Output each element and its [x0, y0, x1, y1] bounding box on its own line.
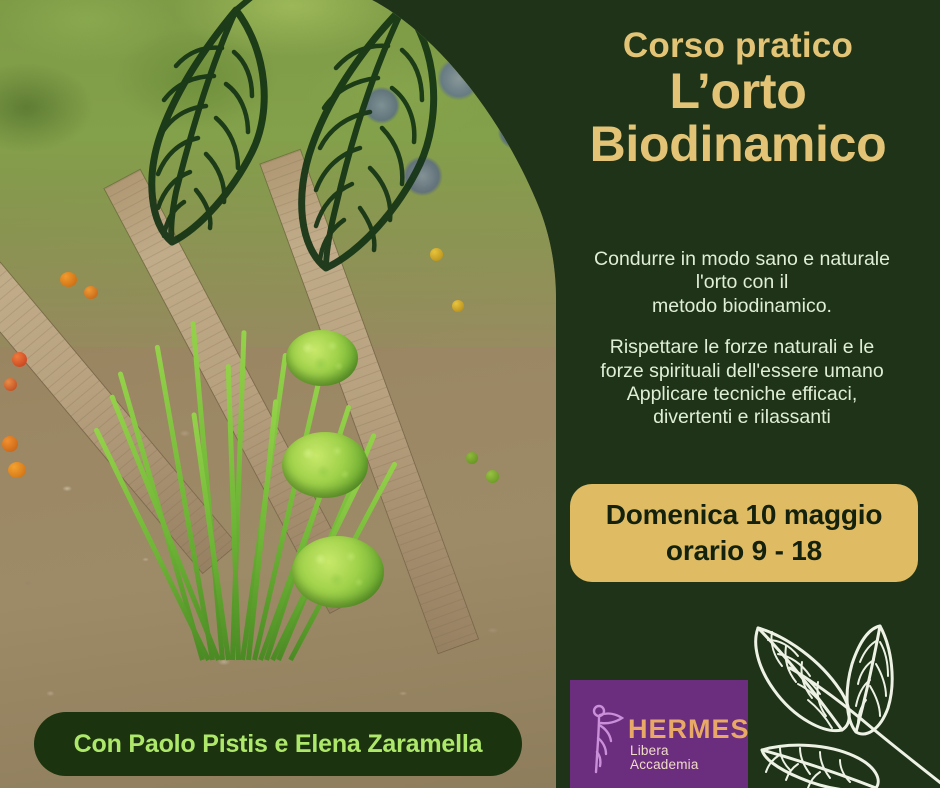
garden-photo — [0, 0, 560, 788]
hermes-logo: HERMES Libera Accademia — [570, 680, 748, 788]
photo-tomato — [20, 404, 32, 416]
title-block: Corso pratico L’orto Biodinamico — [536, 26, 940, 171]
paragraph-gap — [544, 318, 940, 336]
description-text: Condurre in modo sano e naturale l'orto … — [544, 248, 940, 430]
photo-tomato — [12, 352, 27, 367]
photo-tomato-green — [486, 470, 499, 483]
photo-marigold — [84, 286, 98, 299]
leaf-sprig-icon — [728, 602, 940, 788]
photo-lettuce — [286, 330, 358, 386]
description-line: forze spirituali dell'essere umano — [544, 360, 940, 383]
poster-root: Corso pratico L’orto Biodinamico Condurr… — [0, 0, 940, 788]
hermes-logo-tagline: Libera Accademia — [630, 744, 740, 771]
photo-marigold — [2, 436, 18, 452]
title-line-2: Biodinamico — [536, 118, 940, 171]
description-line: Condurre in modo sano e naturale — [544, 248, 940, 271]
hermes-logo-name: HERMES — [628, 716, 750, 743]
description-line: Rispettare le forze naturali e le — [544, 336, 940, 359]
date-badge: Domenica 10 maggio orario 9 - 18 — [570, 484, 918, 582]
photo-lettuce — [282, 432, 368, 498]
garden-photo-image — [0, 0, 560, 788]
info-panel: Corso pratico L’orto Biodinamico Condurr… — [556, 0, 940, 788]
description-line: metodo biodinamico. — [544, 295, 940, 318]
leaf-outline-icon — [0, 0, 560, 286]
presenters-text: Con Paolo Pistis e Elena Zaramella — [74, 730, 483, 759]
photo-tomato — [4, 378, 17, 391]
title-kicker: Corso pratico — [536, 26, 940, 65]
photo-marigold — [452, 300, 464, 312]
description-line: l'orto con il — [544, 271, 940, 294]
photo-tomato-green — [466, 452, 478, 464]
photo-lettuce — [292, 536, 384, 608]
presenters-banner: Con Paolo Pistis e Elena Zaramella — [34, 712, 522, 776]
title-line-1: L’orto — [536, 65, 940, 118]
date-badge-time: orario 9 - 18 — [666, 533, 822, 569]
photo-marigold — [8, 462, 26, 478]
caduceus-figure-icon — [586, 698, 624, 774]
date-badge-date: Domenica 10 maggio — [606, 497, 882, 533]
description-line: divertenti e rilassanti — [544, 406, 940, 429]
description-line: Applicare tecniche efficaci, — [544, 383, 940, 406]
